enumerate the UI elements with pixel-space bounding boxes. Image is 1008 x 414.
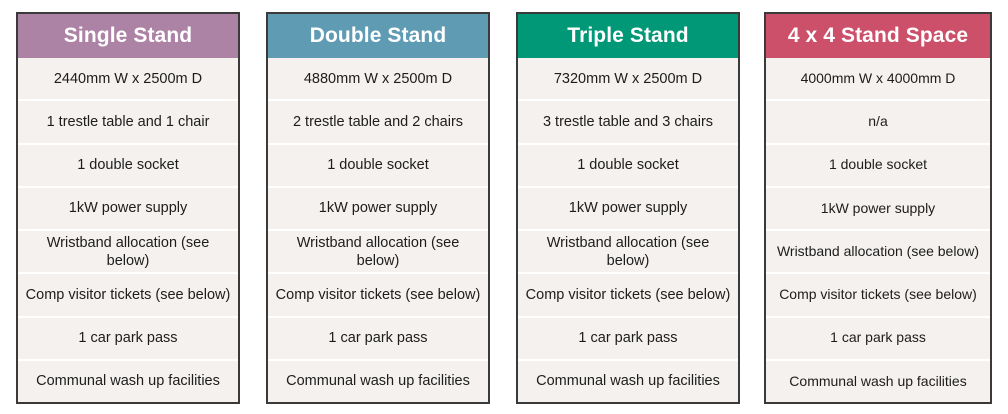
table-row: 1 double socket <box>518 143 738 186</box>
table-row: 1 double socket <box>766 143 990 186</box>
stand-header-triple: Triple Stand <box>518 14 738 58</box>
stand-table-double: Double Stand 4880mm W x 2500m D 2 trestl… <box>266 12 490 404</box>
stand-title-4x4-space: 4 x 4 Stand Space <box>788 24 968 48</box>
table-row: Comp visitor tickets (see below) <box>766 272 990 315</box>
stand-body-4x4-space: 4000mm W x 4000mm D n/a 1 double socket … <box>766 58 990 402</box>
table-row: Wristband allocation (see below) <box>518 229 738 272</box>
stand-table-triple: Triple Stand 7320mm W x 2500m D 3 trestl… <box>516 12 740 404</box>
table-row: Comp visitor tickets (see below) <box>18 272 238 315</box>
stand-body-double: 4880mm W x 2500m D 2 trestle table and 2… <box>268 58 488 402</box>
table-row: 4000mm W x 4000mm D <box>766 58 990 99</box>
table-row: 2 trestle table and 2 chairs <box>268 99 488 142</box>
stand-title-double: Double Stand <box>310 24 447 48</box>
table-row: Communal wash up facilities <box>18 359 238 402</box>
stand-body-single: 2440mm W x 2500m D 1 trestle table and 1… <box>18 58 238 402</box>
table-row: Communal wash up facilities <box>766 359 990 402</box>
stand-header-4x4-space: 4 x 4 Stand Space <box>766 14 990 58</box>
table-row: 1 car park pass <box>766 316 990 359</box>
table-row: Wristband allocation (see below) <box>268 229 488 272</box>
table-row: 1 car park pass <box>18 316 238 359</box>
table-row: 1 car park pass <box>268 316 488 359</box>
table-row: 1 car park pass <box>518 316 738 359</box>
table-row: 3 trestle table and 3 chairs <box>518 99 738 142</box>
table-row: n/a <box>766 99 990 142</box>
stand-header-single: Single Stand <box>18 14 238 58</box>
table-row: 1kW power supply <box>518 186 738 229</box>
stand-header-double: Double Stand <box>268 14 488 58</box>
table-row: 1kW power supply <box>18 186 238 229</box>
table-row: 2440mm W x 2500m D <box>18 58 238 99</box>
table-row: 1 double socket <box>268 143 488 186</box>
table-row: Wristband allocation (see below) <box>18 229 238 272</box>
table-row: 4880mm W x 2500m D <box>268 58 488 99</box>
table-row: 1 trestle table and 1 chair <box>18 99 238 142</box>
stand-table-4x4-space: 4 x 4 Stand Space 4000mm W x 4000mm D n/… <box>764 12 992 404</box>
table-row: Wristband allocation (see below) <box>766 229 990 272</box>
table-row: Comp visitor tickets (see below) <box>518 272 738 315</box>
table-row: Communal wash up facilities <box>268 359 488 402</box>
stand-title-single: Single Stand <box>64 24 192 48</box>
table-row: Communal wash up facilities <box>518 359 738 402</box>
stand-comparison-tables: Single Stand 2440mm W x 2500m D 1 trestl… <box>0 0 1008 414</box>
stand-title-triple: Triple Stand <box>567 24 688 48</box>
table-row: 1kW power supply <box>766 186 990 229</box>
stand-table-single: Single Stand 2440mm W x 2500m D 1 trestl… <box>16 12 240 404</box>
table-row: 7320mm W x 2500m D <box>518 58 738 99</box>
stand-body-triple: 7320mm W x 2500m D 3 trestle table and 3… <box>518 58 738 402</box>
table-row: Comp visitor tickets (see below) <box>268 272 488 315</box>
table-row: 1 double socket <box>18 143 238 186</box>
table-row: 1kW power supply <box>268 186 488 229</box>
